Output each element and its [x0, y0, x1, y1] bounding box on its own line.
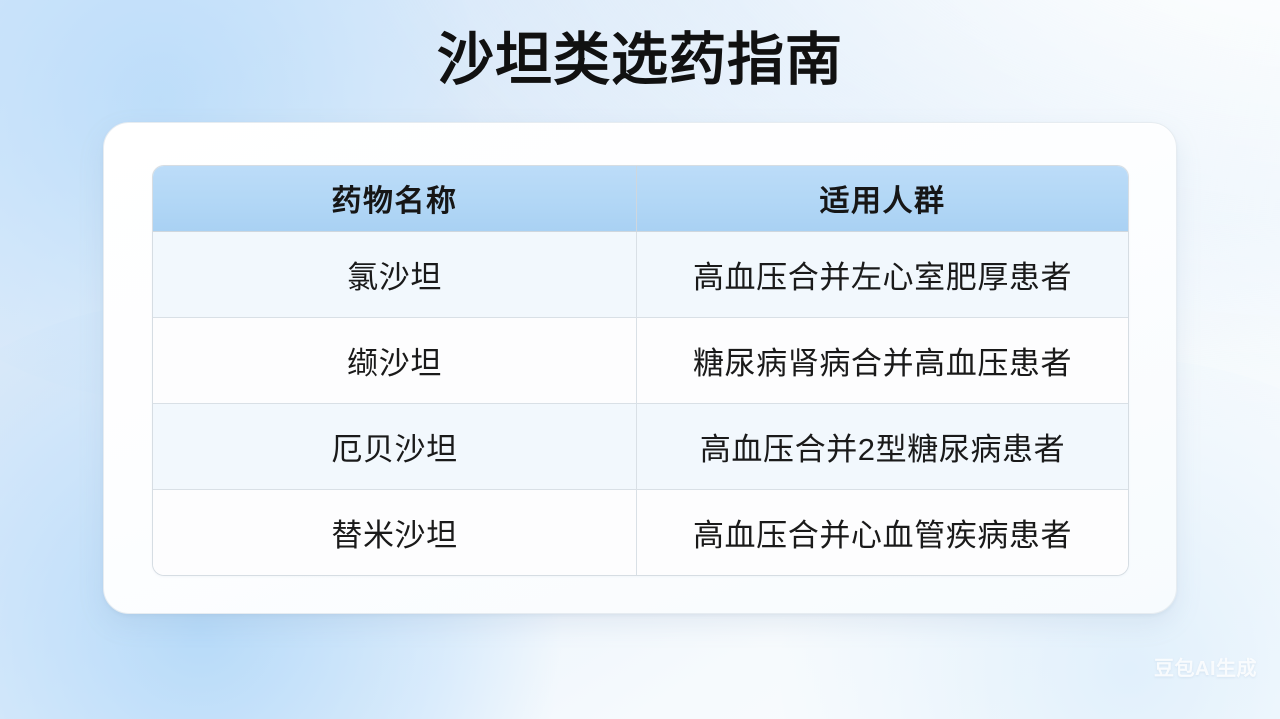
table-header-row: 药物名称 适用人群: [153, 166, 1128, 231]
drug-table-container: 药物名称 适用人群 氯沙坦 高血压合并左心室肥厚患者 缬沙坦 糖尿病肾病合并高血…: [152, 165, 1129, 576]
drug-table: 药物名称 适用人群 氯沙坦 高血压合并左心室肥厚患者 缬沙坦 糖尿病肾病合并高血…: [153, 166, 1128, 575]
cell-target-population: 高血压合并左心室肥厚患者: [637, 231, 1128, 317]
content-card: 药物名称 适用人群 氯沙坦 高血压合并左心室肥厚患者 缬沙坦 糖尿病肾病合并高血…: [103, 122, 1177, 614]
column-header-target-population: 适用人群: [637, 166, 1128, 231]
table-row: 氯沙坦 高血压合并左心室肥厚患者: [153, 231, 1128, 317]
cell-target-population: 高血压合并2型糖尿病患者: [637, 403, 1128, 489]
cell-target-population: 高血压合并心血管疾病患者: [637, 489, 1128, 575]
cell-drug-name: 替米沙坦: [153, 489, 637, 575]
table-row: 厄贝沙坦 高血压合并2型糖尿病患者: [153, 403, 1128, 489]
ai-watermark: 豆包AI生成: [1154, 652, 1257, 681]
cell-drug-name: 氯沙坦: [153, 231, 637, 317]
table-row: 替米沙坦 高血压合并心血管疾病患者: [153, 489, 1128, 575]
table-body: 氯沙坦 高血压合并左心室肥厚患者 缬沙坦 糖尿病肾病合并高血压患者 厄贝沙坦 高…: [153, 231, 1128, 575]
cell-drug-name: 厄贝沙坦: [153, 403, 637, 489]
cell-drug-name: 缬沙坦: [153, 317, 637, 403]
page-title: 沙坦类选药指南: [0, 21, 1280, 99]
table-row: 缬沙坦 糖尿病肾病合并高血压患者: [153, 317, 1128, 403]
cell-target-population: 糖尿病肾病合并高血压患者: [637, 317, 1128, 403]
column-header-drug-name: 药物名称: [153, 166, 637, 231]
table-header: 药物名称 适用人群: [153, 166, 1128, 231]
